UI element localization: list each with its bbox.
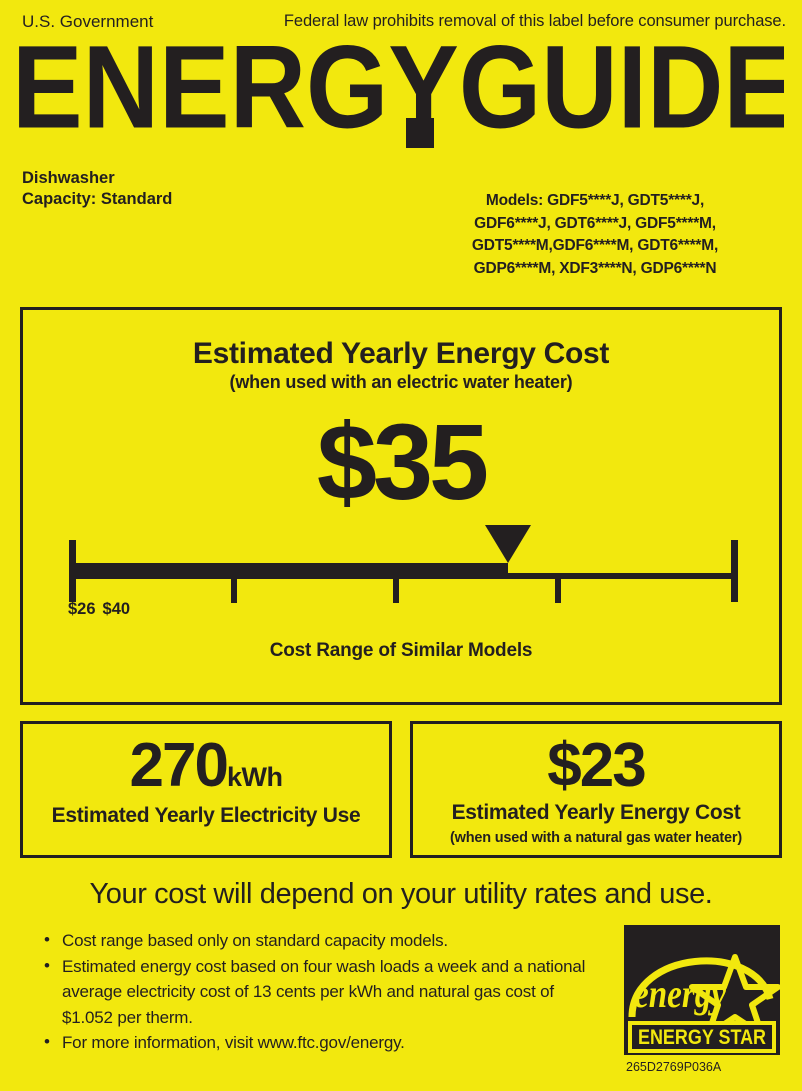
footnotes-list: • Cost range based only on standard capa…: [40, 928, 600, 1056]
product-capacity: Capacity: Standard: [22, 189, 172, 210]
cost-range-high: $40: [103, 600, 131, 618]
product-description: Dishwasher Capacity: Standard: [22, 168, 172, 210]
electricity-use-caption: Estimated Yearly Electricity Use: [23, 804, 389, 828]
electricity-use-number: 270: [130, 731, 227, 800]
scale-axis-line: [508, 573, 738, 579]
model-line: GDF6****J, GDT6****J, GDF5****M,: [410, 213, 780, 236]
cost-range-labels: $26$40: [68, 600, 137, 619]
wordmark-text: ENERGYGUIDE: [18, 40, 784, 148]
footnote-item: • Estimated energy cost based on four wa…: [40, 954, 600, 1031]
label-header: U.S. Government Federal law prohibits re…: [22, 12, 786, 34]
primary-cost-panel: Estimated Yearly Energy Cost (when used …: [20, 307, 782, 705]
electricity-use-value: 270kWh: [23, 730, 389, 813]
energyguide-label: U.S. Government Federal law prohibits re…: [0, 0, 802, 1091]
gas-cost-subcaption: (when used with a natural gas water heat…: [413, 830, 779, 846]
part-number: 265D2769P036A: [626, 1060, 721, 1074]
footnote-text: For more information, visit www.ftc.gov/…: [62, 1033, 405, 1052]
gas-cost-value: $23: [413, 730, 779, 802]
model-line: GDT5****M,GDF6****M, GDT6****M,: [410, 235, 780, 258]
issuing-authority: U.S. Government: [22, 12, 153, 32]
energyguide-wordmark: ENERGYGUIDE: [18, 40, 784, 148]
scale-tick: [231, 579, 237, 603]
footnote-text: Estimated energy cost based on four wash…: [62, 957, 585, 1027]
model-line: Models: GDF5****J, GDT5****J,: [410, 190, 780, 213]
bullet-icon: •: [44, 953, 50, 979]
electricity-use-unit: kWh: [227, 762, 283, 792]
secondary-panels: 270kWh Estimated Yearly Electricity Use …: [20, 721, 782, 858]
scale-tick: [555, 579, 561, 603]
cost-range-caption: Cost Range of Similar Models: [23, 640, 779, 662]
primary-cost-value: $35: [23, 412, 779, 512]
scale-filled-bar: [69, 563, 508, 579]
model-line: GDP6****M, XDF3****N, GDP6****N: [410, 258, 780, 281]
footnote-text: Cost range based only on standard capaci…: [62, 931, 448, 950]
federal-law-notice: Federal law prohibits removal of this la…: [284, 12, 786, 31]
cost-marker-icon: [485, 525, 531, 563]
bullet-icon: •: [44, 927, 50, 953]
cost-disclaimer-tagline: Your cost will depend on your utility ra…: [0, 878, 802, 911]
gas-cost-panel: $23 Estimated Yearly Energy Cost (when u…: [410, 721, 782, 858]
primary-cost-title: Estimated Yearly Energy Cost: [23, 337, 779, 371]
scale-right-cap: [731, 540, 738, 602]
footnote-item: • For more information, visit www.ftc.go…: [40, 1030, 600, 1056]
product-type: Dishwasher: [22, 168, 172, 189]
cost-range-low: $26: [68, 600, 96, 618]
energy-script-text: energy: [634, 971, 726, 1016]
scale-tick: [393, 579, 399, 603]
energy-star-logo: energy ENERGY STAR: [624, 925, 780, 1055]
model-numbers: Models: GDF5****J, GDT5****J, GDF6****J,…: [410, 190, 780, 280]
bullet-icon: •: [44, 1029, 50, 1055]
gas-cost-caption: Estimated Yearly Energy Cost: [413, 801, 779, 825]
electricity-use-panel: 270kWh Estimated Yearly Electricity Use: [20, 721, 392, 858]
energy-star-bar-text: ENERGY STAR: [638, 1026, 766, 1049]
footnote-item: • Cost range based only on standard capa…: [40, 928, 600, 954]
primary-cost-subtitle: (when used with an electric water heater…: [23, 372, 779, 393]
